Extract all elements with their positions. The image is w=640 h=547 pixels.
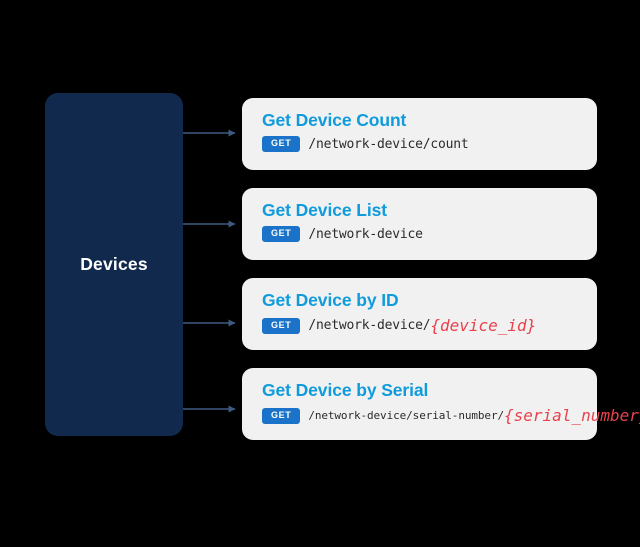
http-method-badge: GET [262,226,300,242]
endpoint-path-row: GET /network-device [262,226,597,242]
endpoint-title: Get Device by ID [262,289,597,311]
endpoint-title: Get Device by Serial [262,379,597,401]
source-node-label: Devices [80,254,148,275]
endpoint-path-row: GET /network-device/count [262,136,597,152]
endpoint-card[interactable]: Get Device List GET /network-device [242,188,597,260]
endpoint-card[interactable]: Get Device Count GET /network-device/cou… [242,98,597,170]
endpoint-path-parameter: {device_id} [430,316,536,335]
endpoint-path: /network-device/serial-number/ [308,409,504,422]
endpoint-path: /network-device/count [308,137,468,152]
endpoint-card[interactable]: Get Device by Serial GET /network-device… [242,368,597,440]
endpoint-path: /network-device [308,227,422,242]
endpoint-path-row: GET /network-device/{device_id} [262,316,597,335]
endpoint-card[interactable]: Get Device by ID GET /network-device/{de… [242,278,597,350]
http-method-badge: GET [262,408,300,424]
http-method-badge: GET [262,318,300,334]
source-node-devices[interactable]: Devices [45,93,183,436]
http-method-badge: GET [262,136,300,152]
endpoint-path-parameter: {serial_number} [504,406,640,425]
endpoint-title: Get Device List [262,199,597,221]
endpoint-title: Get Device Count [262,109,597,131]
diagram-canvas: Devices Get Device Count GET /network-de… [0,0,640,547]
endpoint-path: /network-device/ [308,318,430,333]
endpoint-path-row: GET /network-device/serial-number/{seria… [262,406,597,425]
